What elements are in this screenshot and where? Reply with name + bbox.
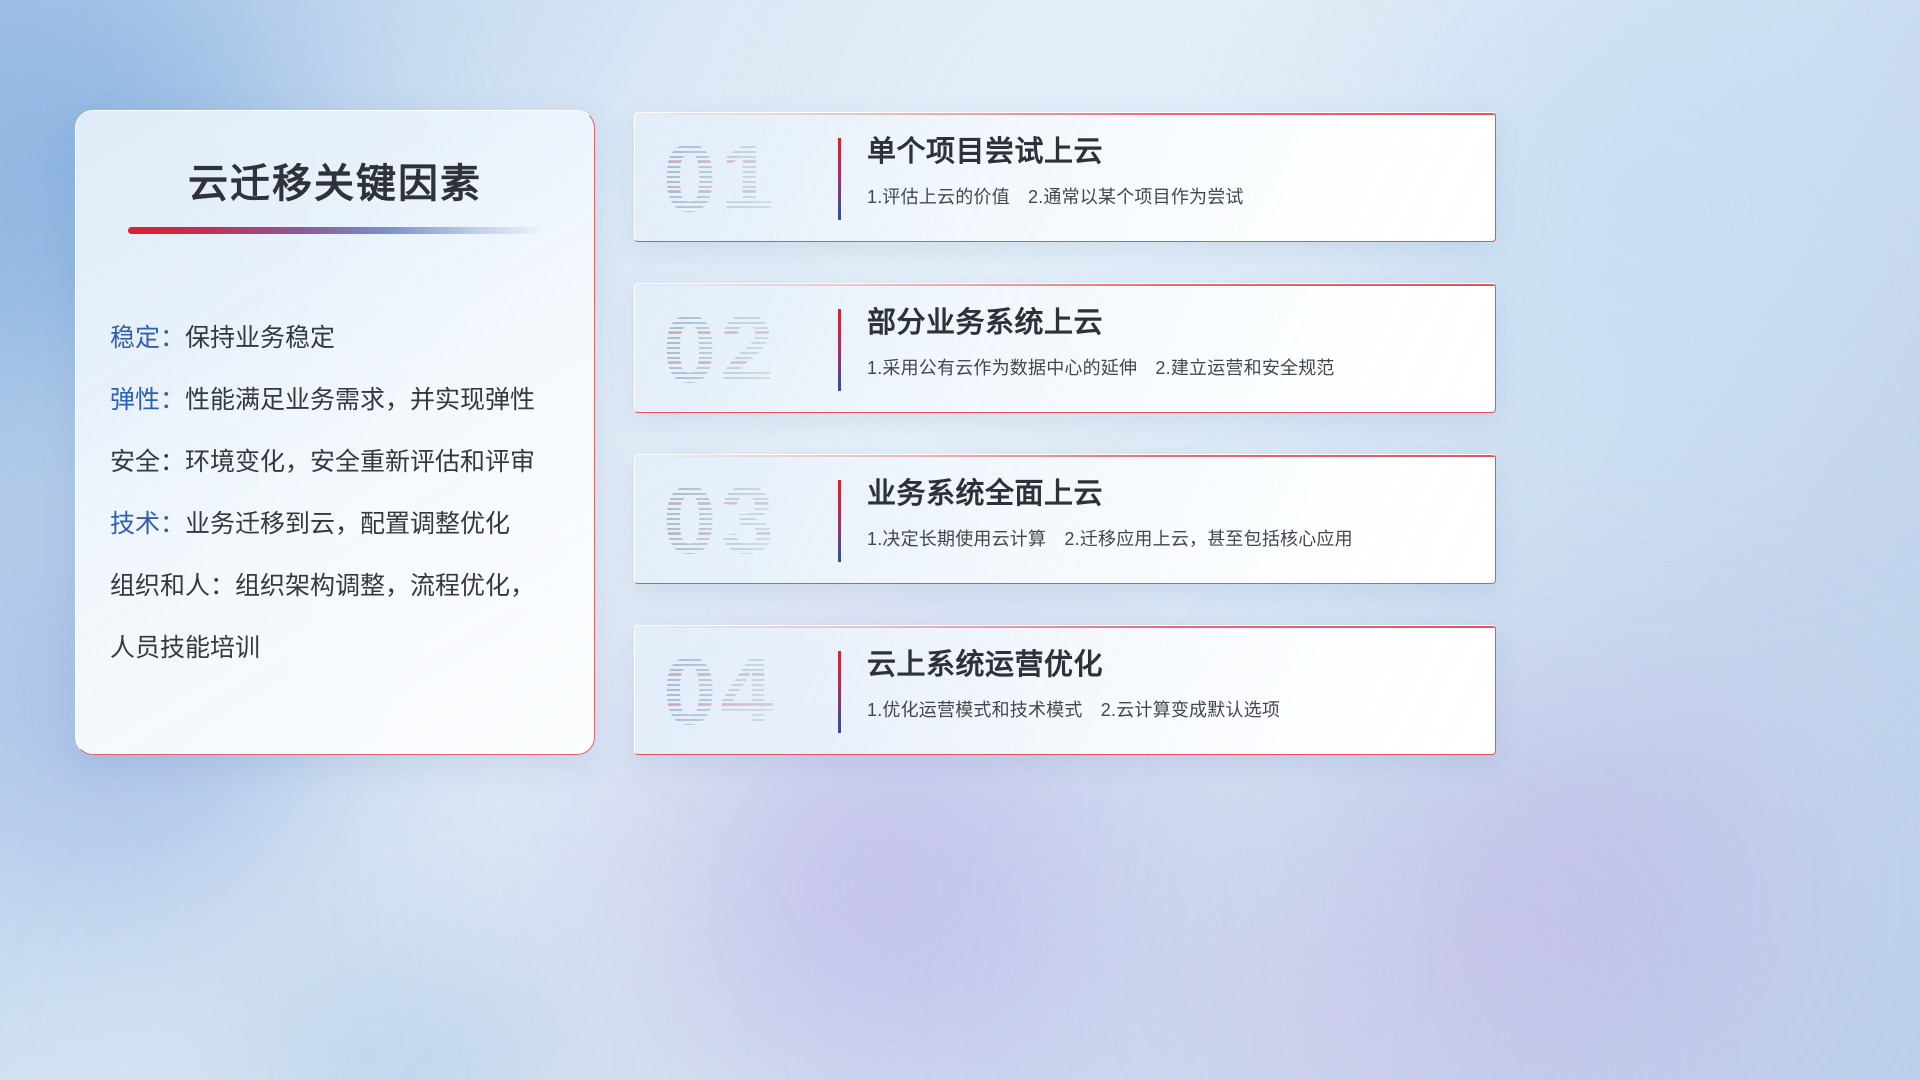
- card-title: 单个项目尝试上云: [867, 133, 1475, 172]
- stage-number-glyph-tint: 04: [663, 634, 863, 750]
- factor-label: 安全：: [110, 448, 185, 476]
- factor-item: 人员技能培训: [110, 617, 574, 679]
- factor-item: 弹性：性能满足业务需求，并实现弹性: [110, 369, 574, 431]
- card-title: 业务系统全面上云: [867, 475, 1475, 514]
- stage-number-glyph-tint: 03: [663, 463, 863, 579]
- factor-item: 组织和人：组织架构调整，流程优化，: [110, 555, 574, 617]
- card-description: 1.采用公有云作为数据中心的延伸 2.建立运营和安全规范: [867, 354, 1475, 380]
- key-factors-panel: 云迁移关键因素 稳定：保持业务稳定弹性：性能满足业务需求，并实现弹性安全：环境变…: [75, 110, 595, 755]
- stage-number-watermark: 0303: [663, 463, 863, 579]
- card-accent-divider: [838, 480, 841, 562]
- title-underline-rule: [128, 227, 544, 234]
- card-accent-divider: [838, 138, 841, 220]
- factor-item: 安全：环境变化，安全重新评估和评审: [110, 431, 574, 493]
- stage-number-glyph-tint: 02: [663, 292, 863, 408]
- factor-text: 保持业务稳定: [185, 324, 335, 352]
- card-body: 部分业务系统上云1.采用公有云作为数据中心的延伸 2.建立运营和安全规范: [867, 304, 1475, 380]
- factor-label: 稳定：: [110, 324, 185, 352]
- stage-number-watermark: 0101: [663, 121, 863, 237]
- stage-number-watermark: 0404: [663, 634, 863, 750]
- factor-text: 业务迁移到云，配置调整优化: [185, 510, 510, 538]
- stage-card[interactable]: 0404云上系统运营优化1.优化运营模式和技术模式 2.云计算变成默认选项: [634, 625, 1496, 755]
- factor-label: 组织和人：: [110, 572, 235, 600]
- card-accent-divider: [838, 651, 841, 733]
- factor-list: 稳定：保持业务稳定弹性：性能满足业务需求，并实现弹性安全：环境变化，安全重新评估…: [110, 307, 574, 679]
- factor-text: 性能满足业务需求，并实现弹性: [185, 386, 535, 414]
- stage-number-glyph-tint: 01: [663, 121, 863, 237]
- factor-text: 组织架构调整，流程优化，: [235, 572, 535, 600]
- stage-card[interactable]: 0303业务系统全面上云1.决定长期使用云计算 2.迁移应用上云，甚至包括核心应…: [634, 454, 1496, 584]
- card-title: 部分业务系统上云: [867, 304, 1475, 343]
- factor-label: 弹性：: [110, 386, 185, 414]
- card-body: 单个项目尝试上云1.评估上云的价值 2.通常以某个项目作为尝试: [867, 133, 1475, 209]
- factor-item: 技术：业务迁移到云，配置调整优化: [110, 493, 574, 555]
- factor-text: 人员技能培训: [110, 634, 260, 662]
- card-description: 1.优化运营模式和技术模式 2.云计算变成默认选项: [867, 696, 1475, 722]
- page-title: 云迁移关键因素: [188, 151, 482, 209]
- stage-card[interactable]: 0101单个项目尝试上云1.评估上云的价值 2.通常以某个项目作为尝试: [634, 112, 1496, 242]
- factor-label: 技术：: [110, 510, 185, 538]
- card-body: 云上系统运营优化1.优化运营模式和技术模式 2.云计算变成默认选项: [867, 646, 1475, 722]
- factor-text: 环境变化，安全重新评估和评审: [185, 448, 535, 476]
- stage-number-watermark: 0202: [663, 292, 863, 408]
- card-title: 云上系统运营优化: [867, 646, 1475, 685]
- card-body: 业务系统全面上云1.决定长期使用云计算 2.迁移应用上云，甚至包括核心应用: [867, 475, 1475, 551]
- stage-card-list: 0101单个项目尝试上云1.评估上云的价值 2.通常以某个项目作为尝试0202部…: [634, 112, 1496, 796]
- card-description: 1.评估上云的价值 2.通常以某个项目作为尝试: [867, 183, 1475, 209]
- card-description: 1.决定长期使用云计算 2.迁移应用上云，甚至包括核心应用: [867, 525, 1475, 551]
- card-accent-divider: [838, 309, 841, 391]
- stage-card[interactable]: 0202部分业务系统上云1.采用公有云作为数据中心的延伸 2.建立运营和安全规范: [634, 283, 1496, 413]
- factor-item: 稳定：保持业务稳定: [110, 307, 574, 369]
